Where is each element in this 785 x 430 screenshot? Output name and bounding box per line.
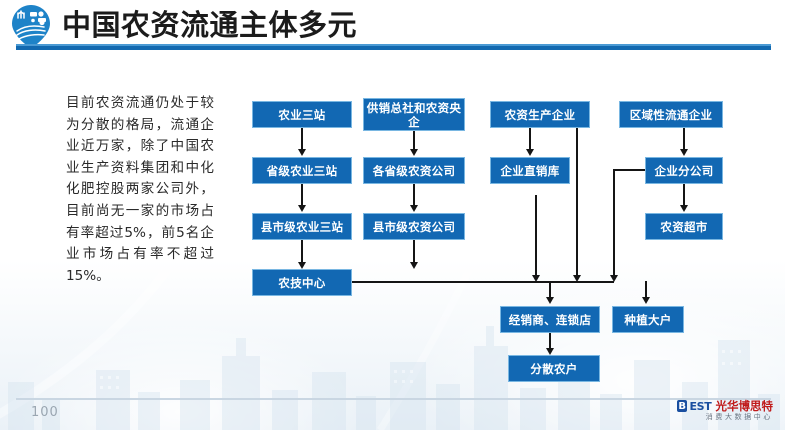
brand-chinese-name: 光华博思特 <box>716 400 774 412</box>
connector-n3-n7 <box>529 128 531 149</box>
arrowhead-n2-n6 <box>410 149 418 156</box>
description-paragraph: 目前农资流通仍处于较为分散的格局，流通企业近万家，除了中国农业生产资料集团和中化… <box>66 93 214 287</box>
flow-node-jingxiaoshang-liansuodian[interactable]: 经销商、连锁店 <box>500 306 600 333</box>
flow-node-gongxiao-zongshe[interactable]: 供销总社和农资央企 <box>363 98 465 131</box>
flow-node-nongzi-chaoshi[interactable]: 农资超市 <box>645 213 723 240</box>
header-divider-highlight <box>16 44 771 46</box>
arrowhead-n10-down <box>410 262 418 269</box>
connector-n5-n9 <box>301 184 303 205</box>
page-number: 100 <box>31 405 59 420</box>
brand-logo: B EST 光华博思特 消费大数据中心 <box>677 400 773 421</box>
brand-logo-row: B EST 光华博思特 <box>677 400 773 412</box>
connector-bus-to-n14 <box>645 281 647 297</box>
connector-n8-branch-h <box>613 169 647 171</box>
flow-node-qiye-zhixiaoku[interactable]: 企业直销库 <box>490 157 570 184</box>
arrowhead-n3-n7 <box>526 149 534 156</box>
flow-node-fensan-nonghu[interactable]: 分散农户 <box>508 355 600 382</box>
flow-node-nongji-zhongxin[interactable]: 农技中心 <box>252 269 352 296</box>
arrowhead-n4-n8 <box>680 149 688 156</box>
flow-node-shengji-nongye-sanzhan[interactable]: 省级农业三站 <box>252 157 352 184</box>
arrowhead-n13-n15 <box>546 348 554 355</box>
slide-header: 中国农资流通主体多元 <box>0 0 785 52</box>
slide-root: 中国农资流通主体多元 目前农资流通仍处于较为分散的格局，流通企业近万家，除了中国… <box>0 0 785 430</box>
arrowhead-n5-n9 <box>298 205 306 212</box>
connector-n8-branch-v <box>613 169 615 275</box>
connector-n7-bus <box>535 195 537 275</box>
flow-node-gesheng-nongzi-gongsi[interactable]: 各省级农资公司 <box>363 157 465 184</box>
connector-n8-n11 <box>683 184 685 205</box>
connector-n3-bus <box>576 128 578 275</box>
arrowhead-n6-n10 <box>410 205 418 212</box>
brand-b-mark-icon: B <box>677 400 688 412</box>
connector-n1-n5 <box>301 128 303 149</box>
arrowhead-n8-n11 <box>680 205 688 212</box>
arrowhead-bus-to-n14 <box>642 297 650 304</box>
flow-node-nongye-sanzhan[interactable]: 农业三站 <box>252 101 352 128</box>
connector-n4-n8 <box>683 128 685 149</box>
flow-node-zhongzhi-dahu[interactable]: 种植大户 <box>612 306 684 333</box>
arrowhead-n9-n12 <box>298 262 306 269</box>
connector-n10-down <box>413 240 415 262</box>
brand-est-text: EST <box>689 401 711 412</box>
brand-tagline: 消费大数据中心 <box>677 414 773 421</box>
connector-n6-n10 <box>413 184 415 205</box>
arrowhead-n1-n5 <box>298 149 306 156</box>
flow-node-qiye-fengongsi[interactable]: 企业分公司 <box>645 157 723 184</box>
flow-node-xianshiji-nongzi-gongsi[interactable]: 县市级农资公司 <box>363 213 465 240</box>
flow-node-xianshiji-nongye-sanzhan[interactable]: 县市级农业三站 <box>252 213 352 240</box>
page-title: 中国农资流通主体多元 <box>62 7 357 43</box>
connector-n2-n6 <box>413 131 415 149</box>
flow-node-nongzi-shengchan-qiye[interactable]: 农资生产企业 <box>490 101 590 128</box>
connector-n13-n15 <box>549 333 551 348</box>
connector-n9-n12 <box>301 240 303 262</box>
farm-location-pin-icon <box>8 3 54 49</box>
arrowhead-bus-to-n13 <box>546 297 554 304</box>
footer-divider <box>16 398 771 400</box>
connector-bus-to-n13 <box>549 281 551 297</box>
connector-bus-from-n12 <box>350 281 614 283</box>
flow-node-quyuxing-liutong-qiye[interactable]: 区域性流通企业 <box>619 101 723 128</box>
